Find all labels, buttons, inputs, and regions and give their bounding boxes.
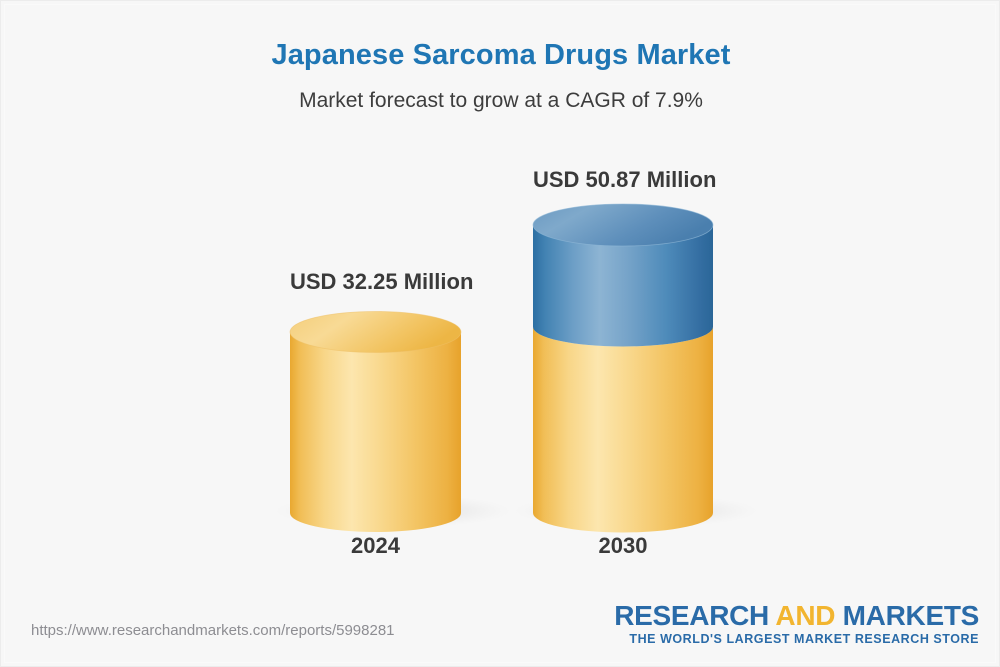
bar-2030[interactable]	[514, 204, 758, 533]
bar-2030-segment-base	[533, 327, 713, 533]
brand-logo[interactable]: RESEARCH AND MARKETS THE WORLD'S LARGEST…	[614, 601, 979, 647]
category-label-2030: 2030	[533, 533, 713, 559]
brand-name-part2: MARKETS	[835, 600, 979, 631]
category-label-2024: 2024	[290, 533, 461, 559]
brand-name: RESEARCH AND MARKETS	[614, 601, 979, 630]
brand-name-part1: RESEARCH	[614, 600, 775, 631]
bar-2024[interactable]	[275, 312, 511, 533]
value-label-2024: USD 32.25 Million	[290, 269, 461, 295]
brand-name-and: AND	[775, 600, 835, 631]
bar-2024-body	[290, 332, 461, 532]
brand-tagline: THE WORLD'S LARGEST MARKET RESEARCH STOR…	[614, 632, 979, 647]
cylinder-bar-plot	[1, 1, 1000, 667]
source-url[interactable]: https://www.researchandmarkets.com/repor…	[31, 622, 395, 639]
chart-figure: Japanese Sarcoma Drugs Market Market for…	[0, 0, 1000, 667]
value-label-2030: USD 50.87 Million	[533, 167, 713, 193]
